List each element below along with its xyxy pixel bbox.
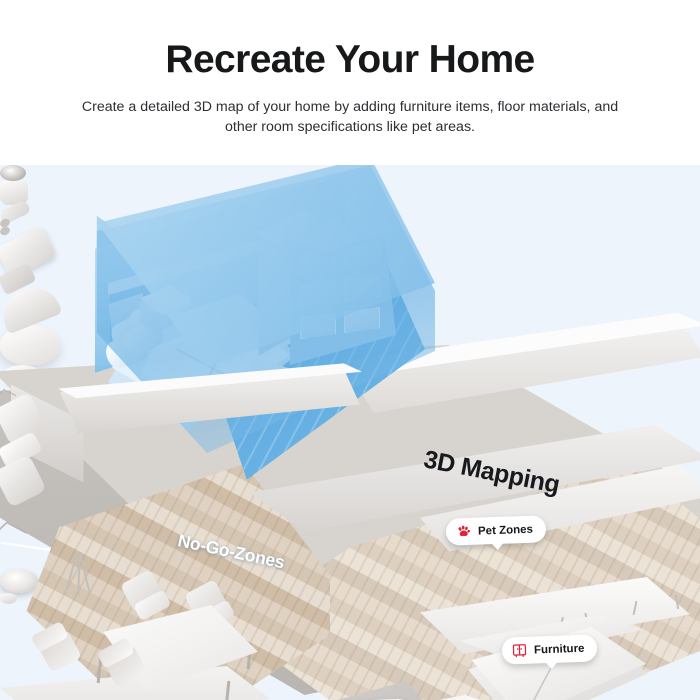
- robot-vacuum-dome: [0, 593, 17, 604]
- robot-vacuum[interactable]: [0, 569, 38, 593]
- pet-zones-label: Pet Zones: [478, 523, 533, 537]
- page-header: Recreate Your Home Create a detailed 3D …: [0, 0, 700, 165]
- paw-icon: [456, 524, 472, 540]
- fruit-bowl: [0, 165, 26, 181]
- wardrobe-icon: [512, 643, 528, 659]
- pet-zones-callout[interactable]: Pet Zones: [446, 515, 547, 545]
- page-subtitle: Create a detailed 3D map of your home by…: [70, 79, 630, 137]
- furniture-label: Furniture: [534, 642, 585, 656]
- pet-bowl: [0, 225, 11, 237]
- home-3d-map-scene: No-Go-Zones 3D Mapping Pet Zones: [0, 165, 700, 700]
- page-title: Recreate Your Home: [0, 0, 700, 79]
- furniture-callout[interactable]: Furniture: [502, 634, 598, 664]
